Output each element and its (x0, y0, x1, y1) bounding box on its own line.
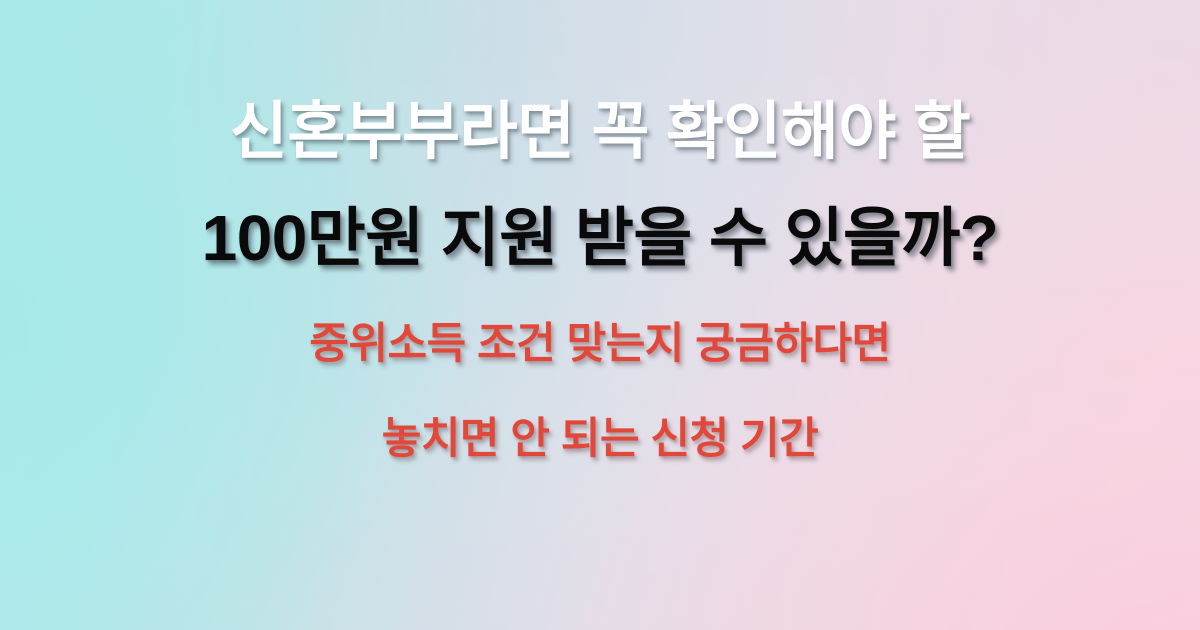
headline-line-1: 신혼부부라면 꼭 확인해야 할 (230, 101, 971, 164)
banner-canvas: 신혼부부라면 꼭 확인해야 할 100만원 지원 받을 수 있을까? 중위소득 … (0, 0, 1200, 630)
subheadline-line-1: 중위소득 조건 맞는지 궁금하다면 (309, 323, 890, 366)
subheadline-line-2: 놓치면 안 되는 신청 기간 (382, 418, 818, 461)
headline-line-2: 100만원 지원 받을 수 있을까? (202, 206, 999, 270)
text-block: 신혼부부라면 꼭 확인해야 할 100만원 지원 받을 수 있을까? 중위소득 … (0, 0, 1200, 630)
